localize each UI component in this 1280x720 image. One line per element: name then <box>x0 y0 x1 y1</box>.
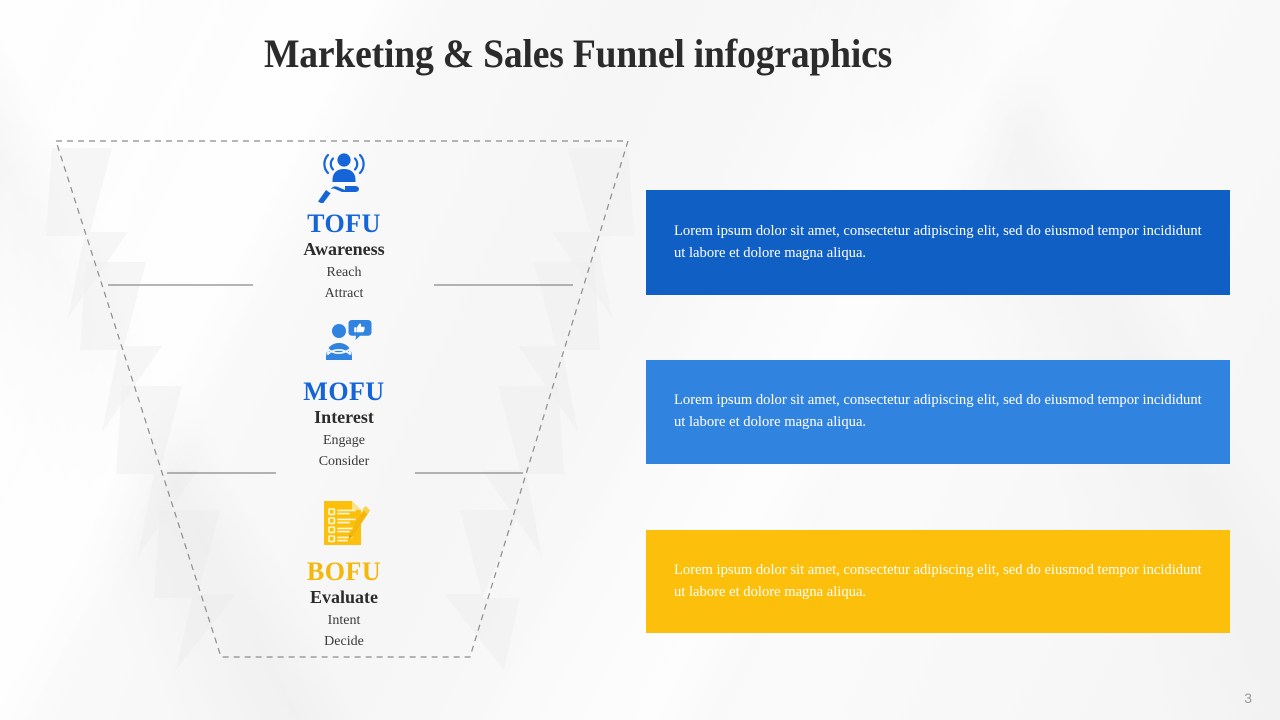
stage-name-tofu: Awareness <box>214 238 474 261</box>
broadcast-person-in-hand-icon <box>214 148 474 204</box>
content-box-mofu[interactable]: Lorem ipsum dolor sit amet, consectetur … <box>646 360 1230 464</box>
funnel-stage-bofu[interactable]: BOFU Evaluate Intent Decide <box>214 496 474 651</box>
content-box-mofu-text: Lorem ipsum dolor sit amet, consectetur … <box>674 390 1202 434</box>
stage-subline-bofu-2: Decide <box>214 632 474 651</box>
stage-key-bofu: BOFU <box>214 558 474 585</box>
content-box-bofu-text: Lorem ipsum dolor sit amet, consectetur … <box>674 560 1202 604</box>
content-box-bofu[interactable]: Lorem ipsum dolor sit amet, consectetur … <box>646 530 1230 633</box>
stage-key-tofu: TOFU <box>214 210 474 237</box>
stage-subline-bofu-1: Intent <box>214 611 474 630</box>
stage-subline-tofu-2: Attract <box>214 284 474 303</box>
page-number: 3 <box>1244 690 1252 706</box>
stage-subline-mofu-2: Consider <box>214 452 474 471</box>
person-thumbs-up-bubble-icon <box>214 316 474 372</box>
stage-key-mofu: MOFU <box>214 378 474 405</box>
content-box-tofu[interactable]: Lorem ipsum dolor sit amet, consectetur … <box>646 190 1230 295</box>
stage-name-mofu: Interest <box>214 406 474 429</box>
funnel-stage-mofu[interactable]: MOFU Interest Engage Consider <box>214 316 474 471</box>
content-box-tofu-text: Lorem ipsum dolor sit amet, consectetur … <box>674 221 1202 265</box>
stage-subline-tofu-1: Reach <box>214 263 474 282</box>
funnel-stage-tofu[interactable]: TOFU Awareness Reach Attract <box>214 148 474 303</box>
stage-name-bofu: Evaluate <box>214 586 474 609</box>
stage-subline-mofu-1: Engage <box>214 431 474 450</box>
funnel-graphic: TOFU Awareness Reach Attract <box>0 0 680 700</box>
checklist-pen-icon <box>214 496 474 552</box>
slide-canvas: Marketing & Sales Funnel infographics <box>0 0 1280 720</box>
